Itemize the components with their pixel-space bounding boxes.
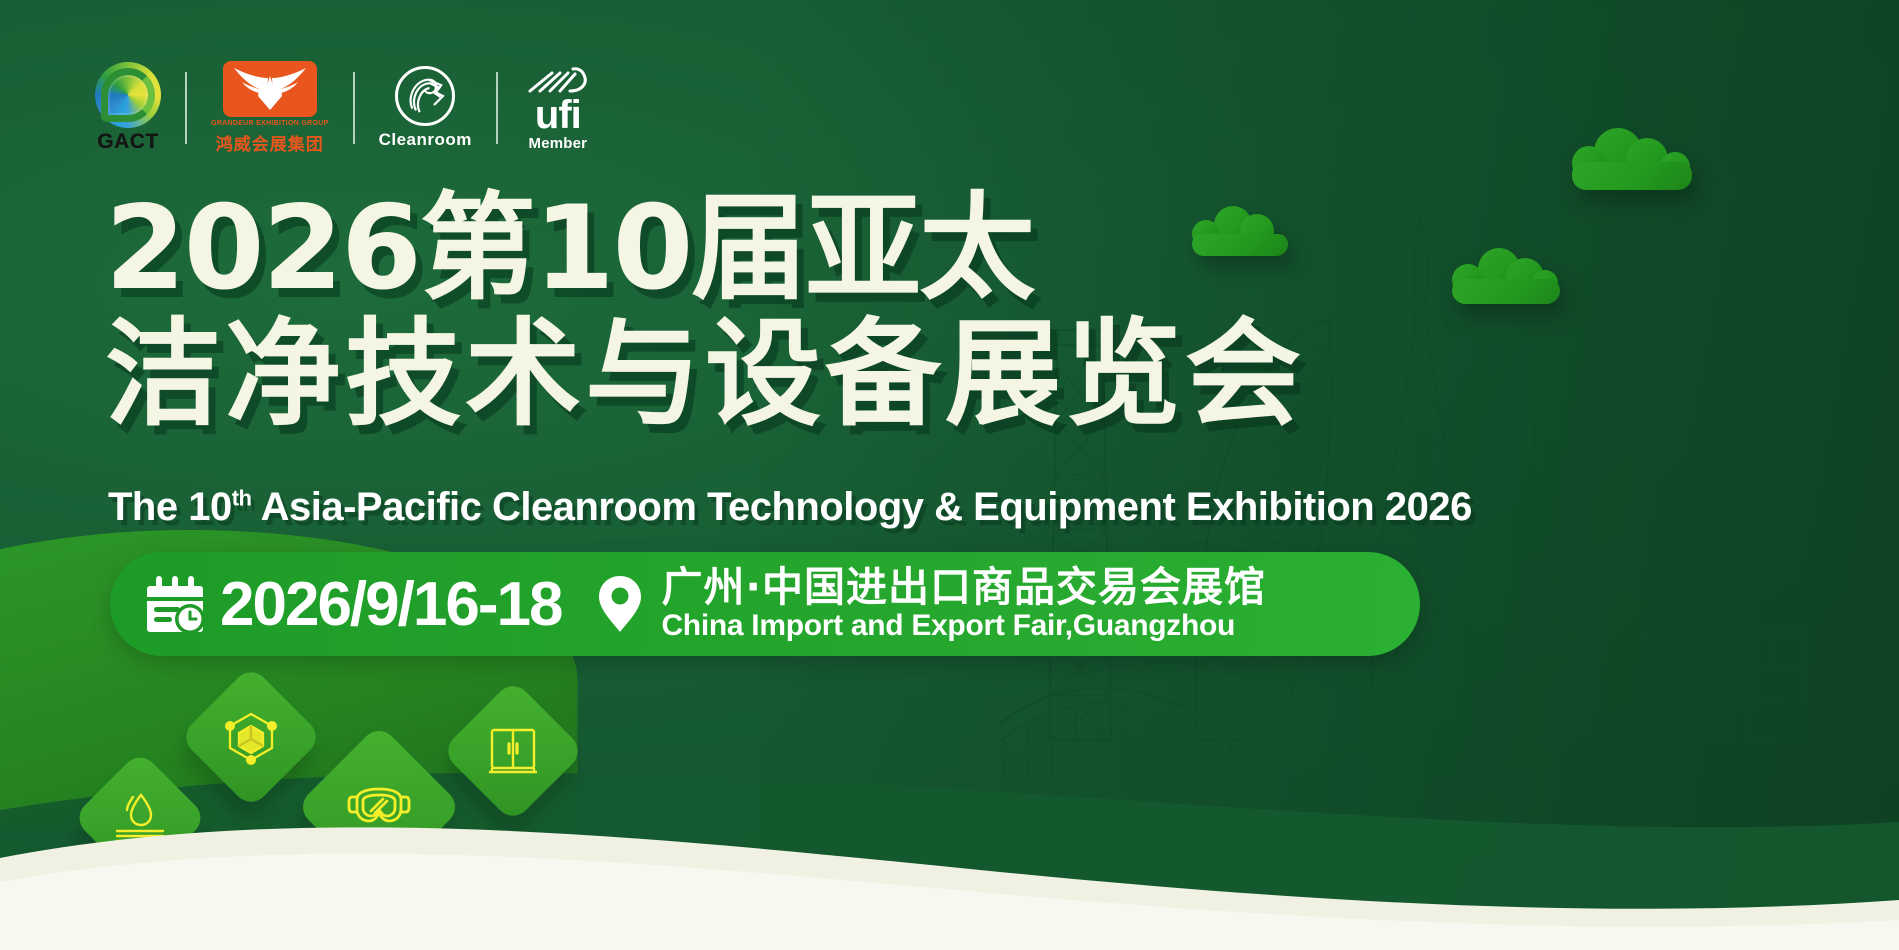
headline-line-1: 2026第10届亚太 [105, 190, 1305, 308]
venue-block: 广州·中国进出口商品交易会展馆 China Import and Export … [661, 565, 1266, 643]
event-date: 2026/9/16-18 [220, 569, 561, 640]
grandeur-chinese: 鸿威会展集团 [216, 130, 324, 155]
tree-bush-1 [1572, 128, 1692, 190]
logo-grandeur: GRANDEUR EXHIBITION GROUP 鸿威会展集团 [211, 61, 329, 155]
logo-cleanroom: Cleanroom [379, 66, 472, 150]
subtitle-english: The 10th Asia-Pacific Cleanroom Technolo… [108, 485, 1472, 530]
venue-chinese: 广州·中国进出口商品交易会展馆 [661, 565, 1266, 609]
subtitle-prefix: The 10 [108, 485, 232, 529]
gact-wordmark: GACT [97, 130, 159, 154]
event-info-pill: 2026/9/16-18 广州·中国进出口商品交易会展馆 China Impor… [110, 552, 1420, 656]
bottom-wave [0, 740, 1899, 950]
ufi-wordmark: ufi [535, 96, 581, 134]
logo-divider-1 [185, 72, 187, 144]
subtitle-ordinal: th [232, 486, 252, 511]
calendar-clock-icon [144, 573, 206, 635]
leaf-orb-icon [395, 66, 455, 126]
page-title: 2026第10届亚太 洁净技术与设备展览会 [105, 190, 1305, 435]
tree-bush-2 [1452, 248, 1560, 304]
ufi-member-label: Member [529, 135, 588, 152]
logo-gact: GACT [95, 62, 161, 154]
logo-row: GACT GRANDEUR EXHIBITION GROUP 鸿威会展集团 [95, 58, 594, 158]
logo-divider-2 [353, 72, 355, 144]
exhibition-banner: GACT GRANDEUR EXHIBITION GROUP 鸿威会展集团 [0, 0, 1899, 950]
map-pin-icon [597, 575, 643, 633]
cleanroom-wordmark: Cleanroom [379, 130, 472, 150]
grandeur-english: GRANDEUR EXHIBITION GROUP [211, 120, 329, 127]
wings-w-icon [223, 61, 317, 117]
logo-divider-3 [496, 72, 498, 144]
venue-english: China Import and Export Fair,Guangzhou [661, 609, 1266, 643]
globe-swirl-icon [95, 62, 161, 128]
subtitle-rest: Asia-Pacific Cleanroom Technology & Equi… [251, 485, 1471, 529]
headline-line-2: 洁净技术与设备展览会 [105, 316, 1305, 434]
logo-ufi: ufi Member [522, 65, 594, 152]
ufi-swoosh-icon [522, 65, 594, 95]
